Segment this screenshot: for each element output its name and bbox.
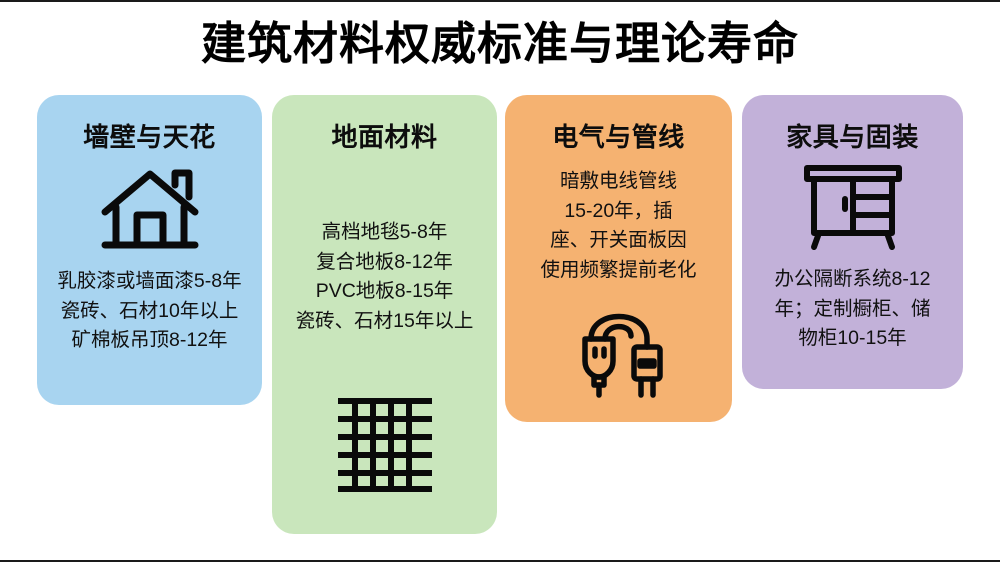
- card-wall-ceiling: 墙壁与天花 乳胶漆或墙面漆5-8年 瓷砖、石材10年以上 矿棉板吊顶8-12年: [37, 95, 262, 405]
- page-title: 建筑材料权威标准与理论寿命: [0, 16, 1000, 72]
- infographic-canvas: 建筑材料权威标准与理论寿命 墙壁与天花 乳胶漆或墙面漆5-8年 瓷砖、石材10年…: [0, 0, 1000, 562]
- card-floor-material-title: 地面材料: [272, 117, 497, 154]
- card-floor-material: 地面材料 高档地毯5-8年 复合地板8-12年 PVC地板8-15年 瓷砖、石材…: [272, 95, 497, 534]
- house-icon: [37, 167, 262, 253]
- card-furniture-fixtures-title: 家具与固装: [742, 117, 963, 154]
- card-electrical-piping-title: 电气与管线: [505, 117, 732, 154]
- cabinet-icon: [742, 163, 963, 251]
- card-floor-material-body: 高档地毯5-8年 复合地板8-12年 PVC地板8-15年 瓷砖、石材15年以上: [272, 218, 497, 337]
- tile-grid-icon: [272, 395, 497, 495]
- card-wall-ceiling-body: 乳胶漆或墙面漆5-8年 瓷砖、石材10年以上 矿棉板吊顶8-12年: [37, 267, 262, 356]
- card-electrical-piping-body: 暗敷电线管线 15-20年，插 座、开关面板因 使用频繁提前老化: [505, 167, 732, 286]
- card-furniture-fixtures: 家具与固装 办公隔断系统8-12 年；定制橱柜、储 物柜10-15年: [742, 95, 963, 389]
- card-electrical-piping: 电气与管线 暗敷电线管线 15-20年，插 座、开关面板因 使用频繁提前老化: [505, 95, 732, 422]
- card-wall-ceiling-title: 墙壁与天花: [37, 117, 262, 154]
- card-furniture-fixtures-body: 办公隔断系统8-12 年；定制橱柜、储 物柜10-15年: [742, 265, 963, 354]
- plug-socket-icon: [505, 303, 732, 399]
